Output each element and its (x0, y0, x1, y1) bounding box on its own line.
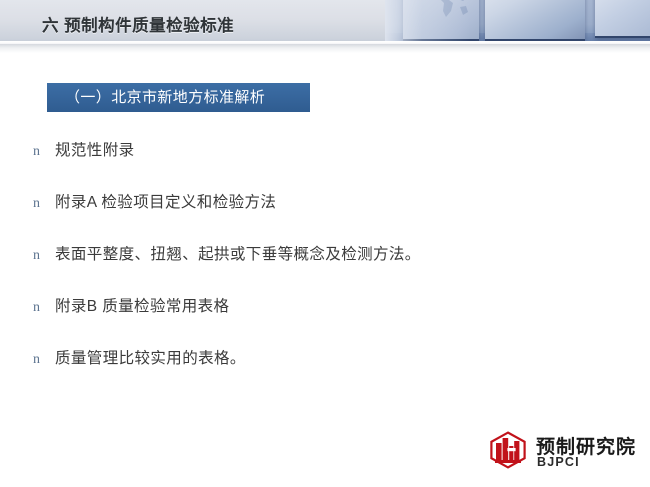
list-item: n 质量管理比较实用的表格。 (0, 346, 650, 398)
list-item: n 附录B 质量检验常用表格 (0, 294, 650, 346)
page-title: 六 预制构件质量检验标准 (42, 12, 234, 36)
bullet-marker-icon: n (33, 248, 55, 264)
list-item-label: 附录B 质量检验常用表格 (55, 294, 229, 316)
bullet-marker-icon: n (33, 300, 55, 316)
list-item-label: 规范性附录 (55, 138, 135, 160)
list-item-label: 附录A 检验项目定义和检验方法 (55, 190, 276, 212)
list-item-label: 表面平整度、扭翘、起拱或下垂等概念及检测方法。 (55, 242, 421, 264)
bullet-marker-icon: n (33, 144, 55, 160)
bullet-marker-icon: n (33, 352, 55, 368)
organization-logo: 预制研究院 BJPCI (488, 428, 640, 476)
slide-header: 六 预制构件质量检验标准 (0, 0, 650, 44)
cube-sheen-overlay (385, 0, 650, 44)
section-heading-label: （一）北京市新地方标准解析 (47, 90, 265, 105)
list-item-label: 质量管理比较实用的表格。 (55, 346, 246, 368)
bullet-marker-icon: n (33, 196, 55, 212)
bullet-list: n 规范性附录 n 附录A 检验项目定义和检验方法 n 表面平整度、扭翘、起拱或… (0, 138, 650, 398)
logo-name-en: BJPCI (537, 455, 580, 469)
list-item: n 规范性附录 (0, 138, 650, 190)
red-building-emblem-icon (488, 430, 528, 470)
section-heading: （一）北京市新地方标准解析 (47, 83, 310, 112)
blue-cubes-graphic (385, 0, 650, 44)
header-shadow (0, 44, 650, 53)
list-item: n 表面平整度、扭翘、起拱或下垂等概念及检测方法。 (0, 242, 650, 294)
list-item: n 附录A 检验项目定义和检验方法 (0, 190, 650, 242)
